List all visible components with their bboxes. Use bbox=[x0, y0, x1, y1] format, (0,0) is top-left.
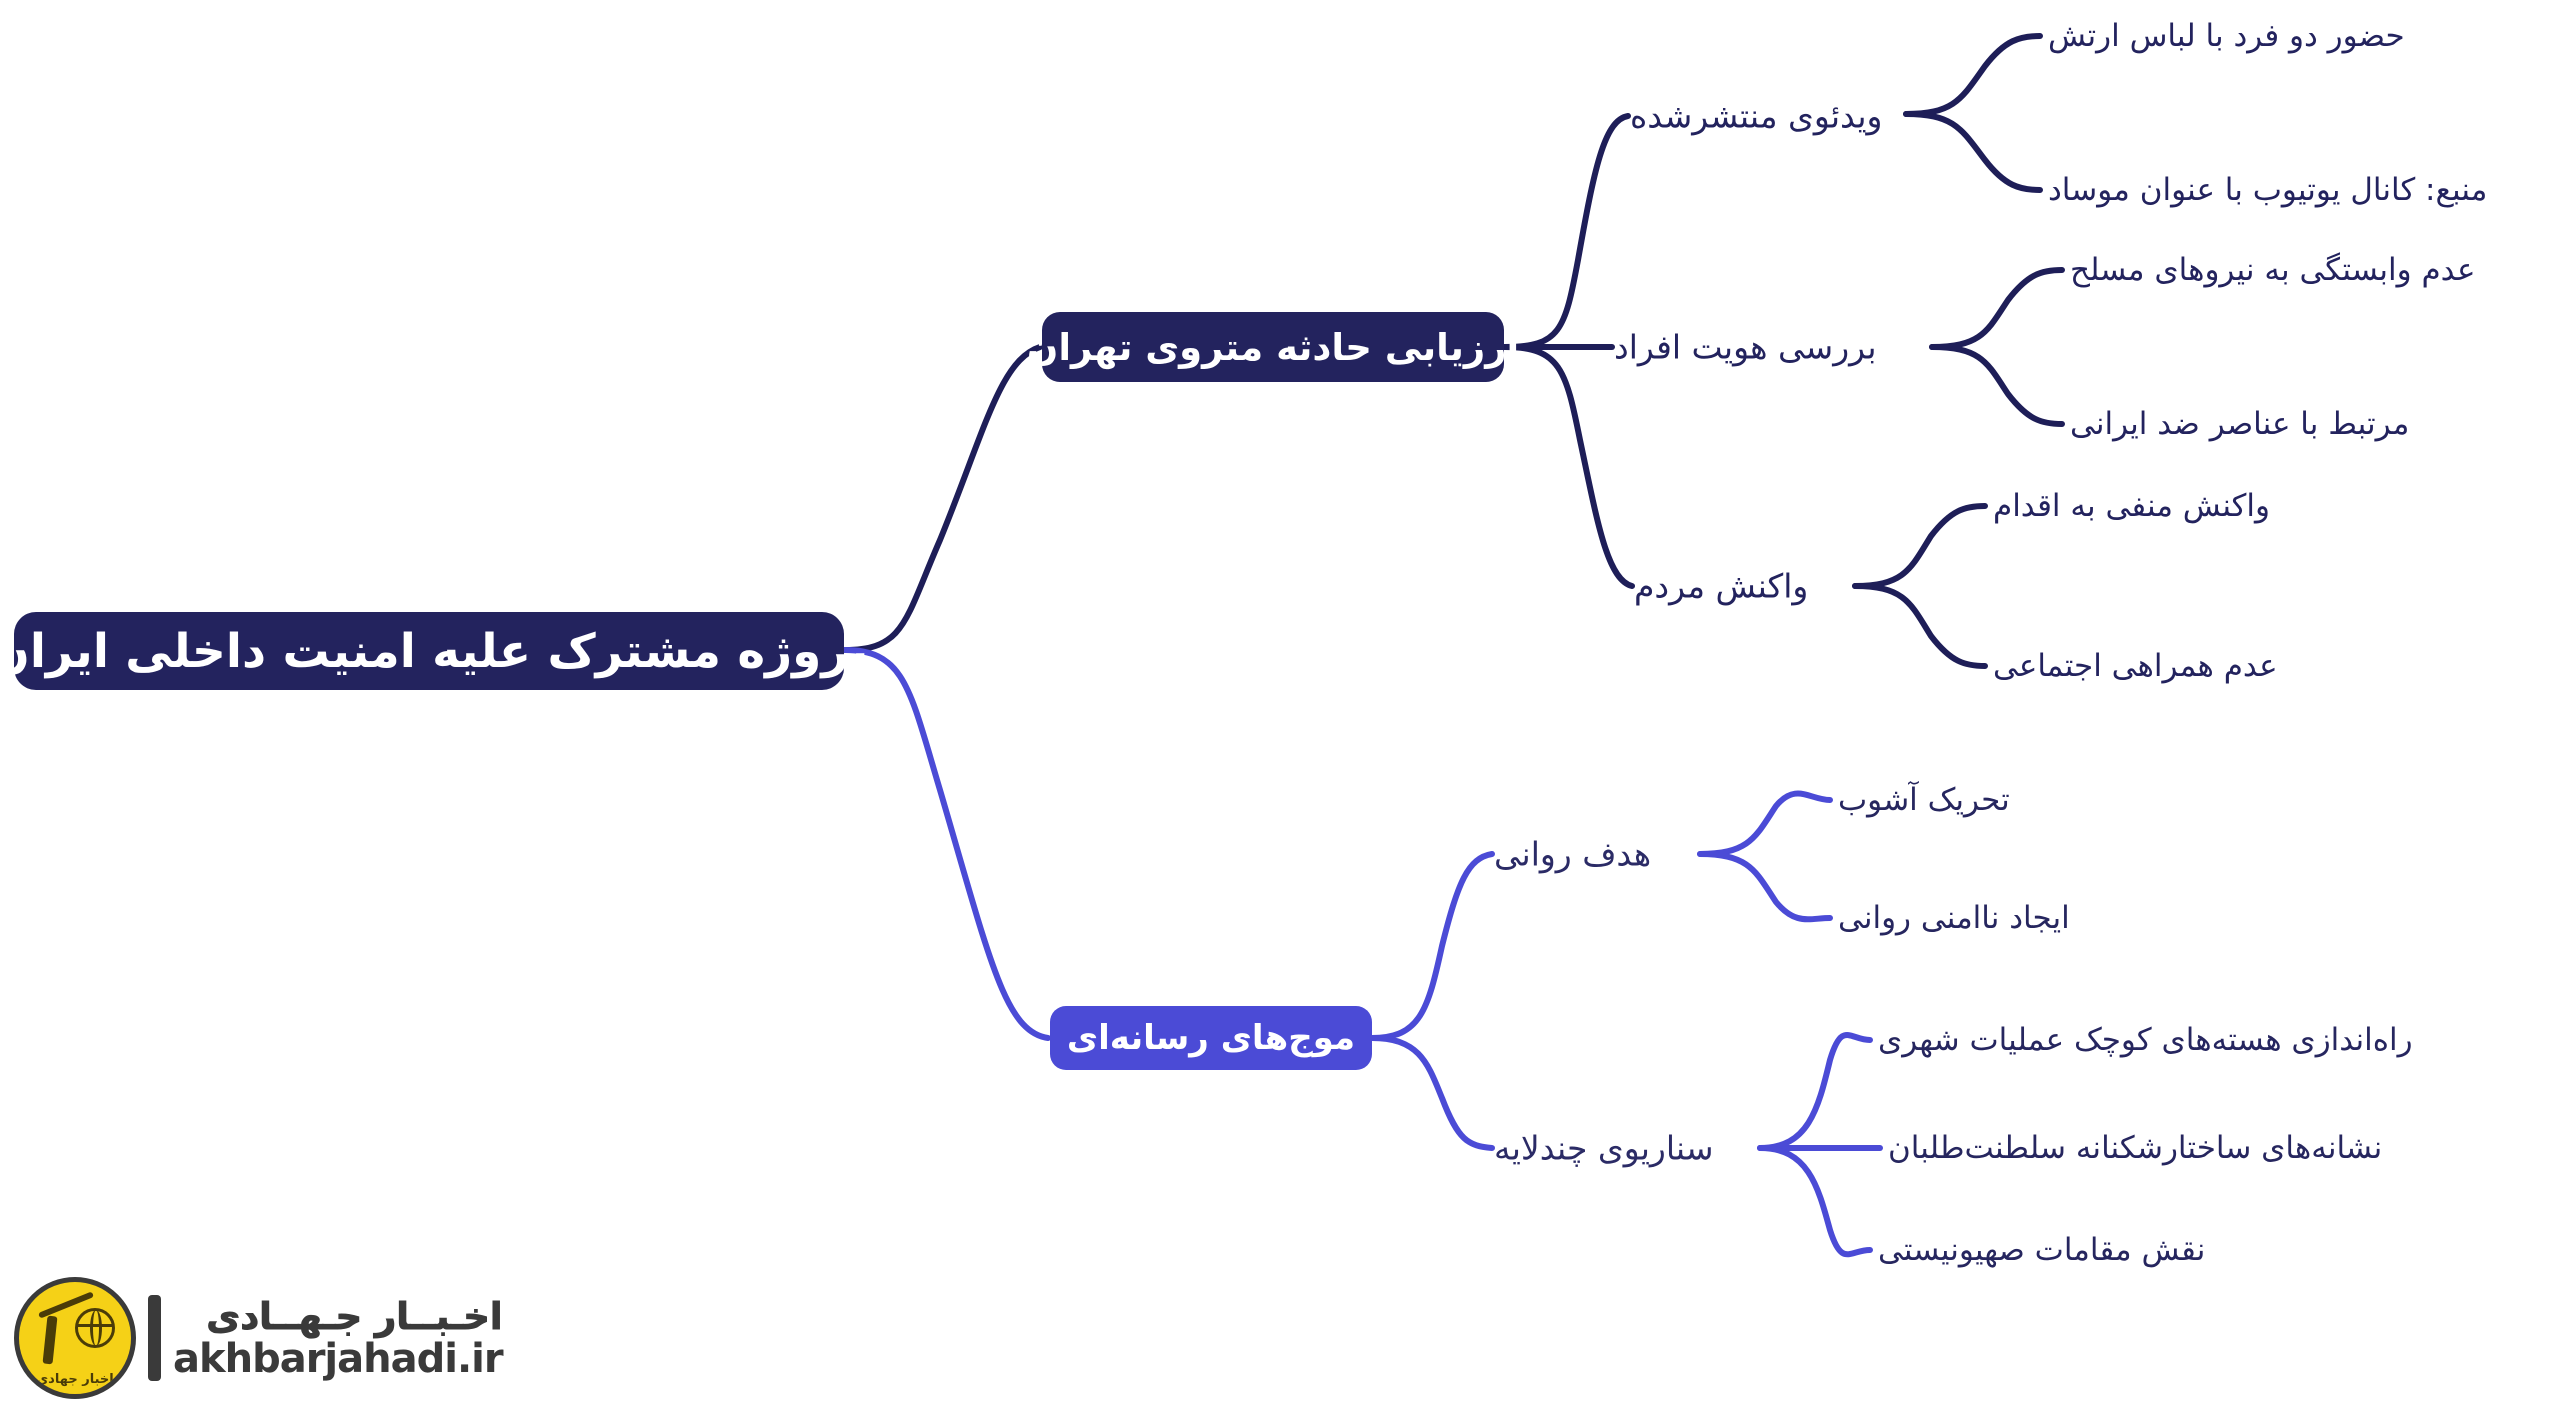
sub-node-multilayer-scenario-label: سناریوی چندلایه bbox=[1494, 1129, 1714, 1168]
leaf-zionist-officials[interactable]: نقش مقامات صهیونیستی bbox=[1878, 1232, 2205, 1268]
leaf-zionist-officials-label: نقش مقامات صهیونیستی bbox=[1878, 1232, 2205, 1268]
leaf-no-social-support-label: عدم همراهی اجتماعی bbox=[1993, 648, 2278, 684]
root-node[interactable]: پروژه مشترک علیه امنیت داخلی ایران bbox=[14, 612, 844, 690]
fist-icon bbox=[43, 1316, 58, 1365]
badge-text: اخبار جهادی bbox=[19, 1372, 131, 1387]
edge-media-to-scenario bbox=[1372, 1038, 1492, 1148]
edge-video-to-leaf-1 bbox=[1906, 36, 2040, 114]
leaf-psych-insecurity-label: ایجاد ناامنی روانی bbox=[1838, 900, 2070, 936]
sub-node-public-reaction[interactable]: واکنش مردم bbox=[1634, 567, 1808, 606]
leaf-incite-unrest[interactable]: تحریک آشوب bbox=[1838, 782, 2010, 818]
leaf-army-uniform[interactable]: حضور دو فرد با لباس ارتش bbox=[2048, 18, 2405, 54]
leaf-no-armed-forces-link-label: عدم وابستگی به نیروهای مسلح bbox=[2070, 252, 2475, 288]
leaf-negative-reaction[interactable]: واکنش منفی به اقدام bbox=[1993, 488, 2270, 524]
site-logo-badge: اخبار جهادی bbox=[14, 1277, 136, 1399]
sub-node-published-video-label: ویدئوی منتشرشده bbox=[1630, 97, 1883, 136]
leaf-no-armed-forces-link[interactable]: عدم وابستگی به نیروهای مسلح bbox=[2070, 252, 2475, 288]
leaf-monarchist-signs[interactable]: نشانه‌های ساختارشکنانه سلطنت‌طلبان bbox=[1888, 1130, 2382, 1166]
leaf-urban-cells[interactable]: راه‌اندازی هسته‌های کوچک عملیات شهری bbox=[1878, 1022, 2413, 1058]
sub-node-identity-check-label: بررسی هویت افراد bbox=[1614, 328, 1877, 367]
sub-node-multilayer-scenario[interactable]: سناریوی چندلایه bbox=[1494, 1129, 1714, 1168]
edge-layer bbox=[0, 0, 2560, 1405]
leaf-urban-cells-label: راه‌اندازی هسته‌های کوچک عملیات شهری bbox=[1878, 1022, 2413, 1058]
site-watermark: اخبار جهادی اخـبــار جـهــادی akhbarjaha… bbox=[14, 1279, 514, 1397]
edge-reaction-to-leaf-2 bbox=[1855, 586, 1985, 666]
leaf-army-uniform-label: حضور دو فرد با لباس ارتش bbox=[2048, 18, 2405, 54]
edge-scenario-to-leaf-3 bbox=[1760, 1148, 1870, 1254]
branch-node-media[interactable]: موج‌های رسانه‌ای bbox=[1050, 1006, 1372, 1070]
root-node-label: پروژه مشترک علیه امنیت داخلی ایران bbox=[0, 624, 868, 679]
mindmap-canvas: پروژه مشترک علیه امنیت داخلی ایران ارزیا… bbox=[0, 0, 2560, 1405]
leaf-youtube-source[interactable]: منبع: کانال یوتیوب با عنوان موساد bbox=[2048, 172, 2487, 208]
logo-divider bbox=[148, 1295, 161, 1381]
branch-node-media-label: موج‌های رسانه‌ای bbox=[1067, 1018, 1355, 1058]
edge-goal-to-leaf-1 bbox=[1700, 794, 1830, 854]
leaf-anti-iranian-elements-label: مرتبط با عناصر ضد ایرانی bbox=[2070, 406, 2409, 442]
sub-node-psych-goal[interactable]: هدف روانی bbox=[1494, 835, 1651, 874]
sub-node-public-reaction-label: واکنش مردم bbox=[1634, 567, 1808, 606]
site-name-fa: اخـبــار جـهــادی bbox=[173, 1298, 503, 1335]
edge-media-to-goal bbox=[1372, 854, 1492, 1038]
edge-goal-to-leaf-2 bbox=[1700, 854, 1830, 919]
leaf-psych-insecurity[interactable]: ایجاد ناامنی روانی bbox=[1838, 900, 2070, 936]
leaf-negative-reaction-label: واکنش منفی به اقدام bbox=[1993, 488, 2270, 524]
edge-reaction-to-leaf-1 bbox=[1855, 506, 1985, 586]
leaf-monarchist-signs-label: نشانه‌های ساختارشکنانه سلطنت‌طلبان bbox=[1888, 1130, 2382, 1166]
edge-identity-to-leaf-2 bbox=[1932, 347, 2062, 424]
leaf-youtube-source-label: منبع: کانال یوتیوب با عنوان موساد bbox=[2048, 172, 2487, 208]
branch-node-metro-label: ارزیابی حادثه متروی تهران bbox=[1027, 326, 1519, 369]
sub-node-published-video[interactable]: ویدئوی منتشرشده bbox=[1630, 97, 1883, 136]
edge-metro-to-video bbox=[1505, 116, 1628, 347]
logo-text-block: اخـبــار جـهــادی akhbarjahadi.ir bbox=[173, 1298, 503, 1379]
edge-scenario-to-leaf-1 bbox=[1760, 1035, 1870, 1148]
edge-identity-to-leaf-1 bbox=[1932, 270, 2062, 347]
sub-node-psych-goal-label: هدف روانی bbox=[1494, 835, 1651, 874]
sub-node-identity-check[interactable]: بررسی هویت افراد bbox=[1614, 328, 1877, 367]
branch-node-metro[interactable]: ارزیابی حادثه متروی تهران bbox=[1042, 312, 1504, 382]
edge-root-to-media bbox=[845, 650, 1048, 1038]
edge-root-to-metro bbox=[845, 347, 1040, 650]
site-url: akhbarjahadi.ir bbox=[173, 1339, 503, 1379]
edge-video-to-leaf-2 bbox=[1906, 114, 2040, 190]
leaf-anti-iranian-elements[interactable]: مرتبط با عناصر ضد ایرانی bbox=[2070, 406, 2409, 442]
leaf-no-social-support[interactable]: عدم همراهی اجتماعی bbox=[1993, 648, 2278, 684]
globe-icon bbox=[75, 1308, 115, 1348]
leaf-incite-unrest-label: تحریک آشوب bbox=[1838, 782, 2010, 818]
edge-metro-to-reaction bbox=[1505, 347, 1632, 586]
